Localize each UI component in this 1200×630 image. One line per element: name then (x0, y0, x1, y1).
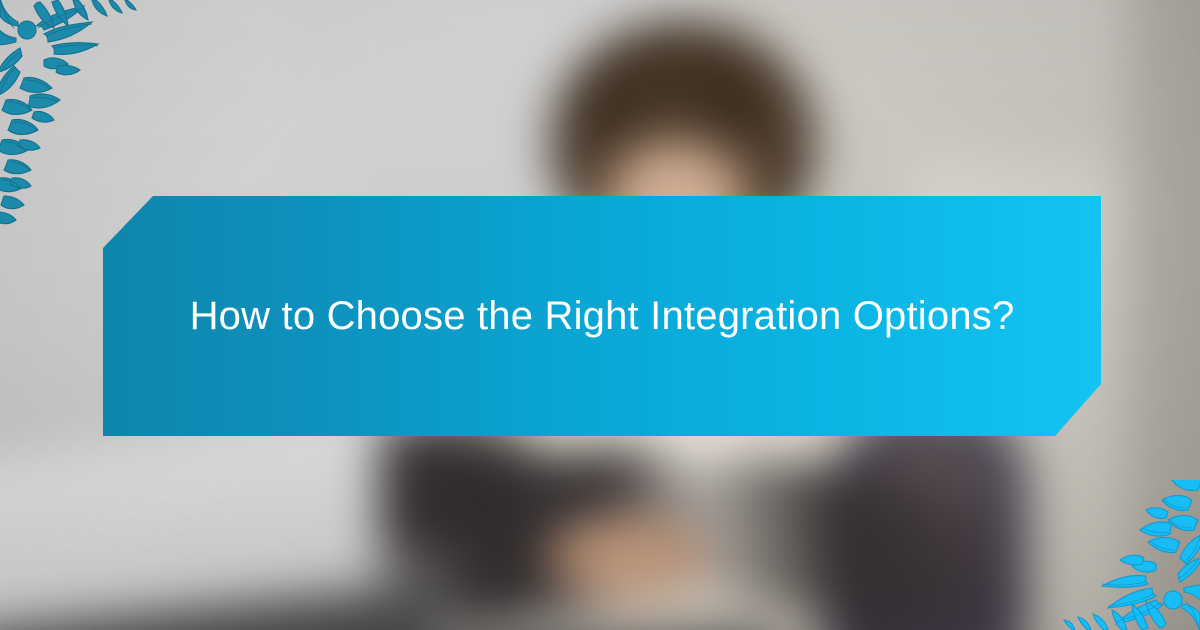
damask-corner-ornament-bottom-right (1050, 480, 1200, 630)
title-banner: How to Choose the Right Integration Opti… (103, 196, 1101, 436)
photo-person-hands (545, 514, 711, 598)
damask-corner-ornament-top-left (0, 0, 150, 230)
banner-title: How to Choose the Right Integration Opti… (190, 292, 1015, 340)
banner-card: How to Choose the Right Integration Opti… (0, 0, 1200, 630)
